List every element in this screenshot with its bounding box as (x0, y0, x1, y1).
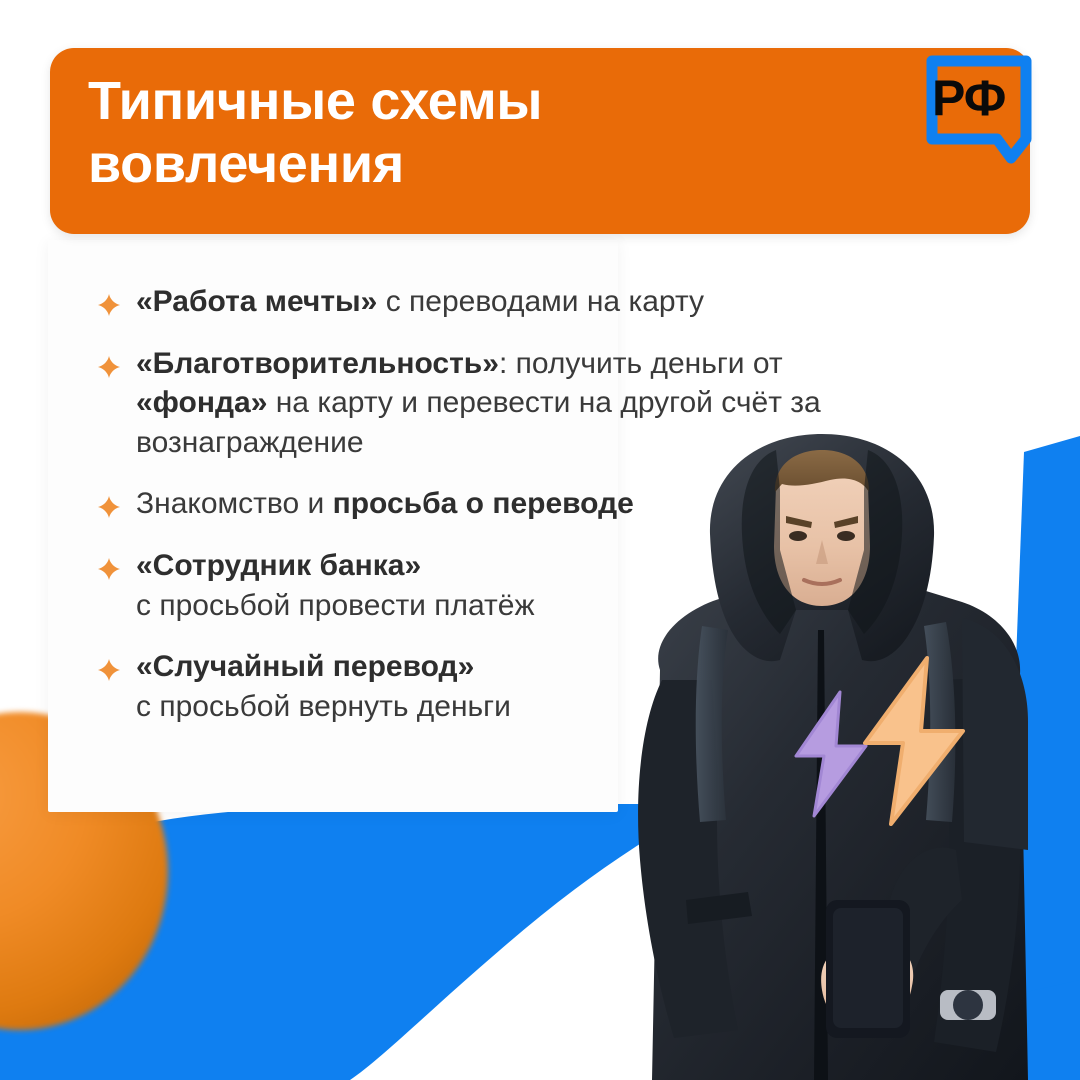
wristwatch-face (953, 990, 983, 1020)
schemes-list: «Работа мечты» с переводами на карту «Бл… (98, 282, 918, 748)
diamond-star-icon (98, 294, 120, 316)
list-item-text: «Благотворительность»: получить деньги о… (136, 344, 918, 463)
list-item: «Сотрудник банка»с просьбой провести пла… (98, 546, 918, 625)
list-item: Знакомство и просьба о переводе (98, 484, 918, 524)
rf-logo-text: РФ (932, 73, 1005, 123)
list-item: «Благотворительность»: получить деньги о… (98, 344, 918, 463)
diamond-star-icon (98, 356, 120, 378)
infographic-canvas: Типичные схемы вовлечения РФ «Работа меч… (0, 0, 1080, 1080)
list-item: «Случайный перевод»с просьбой вернуть де… (98, 647, 918, 726)
list-item-text: «Случайный перевод»с просьбой вернуть де… (136, 647, 511, 726)
diamond-star-icon (98, 558, 120, 580)
list-item-text: Знакомство и просьба о переводе (136, 484, 634, 524)
phone-screen (833, 908, 903, 1028)
page-title: Типичные схемы вовлечения (88, 70, 908, 196)
backpack (962, 618, 1028, 850)
list-item: «Работа мечты» с переводами на карту (98, 282, 918, 322)
list-item-text: «Работа мечты» с переводами на карту (136, 282, 704, 322)
rf-logo[interactable]: РФ (923, 48, 1035, 166)
diamond-star-icon (98, 496, 120, 518)
list-item-text: «Сотрудник банка»с просьбой провести пла… (136, 546, 535, 625)
diamond-star-icon (98, 659, 120, 681)
